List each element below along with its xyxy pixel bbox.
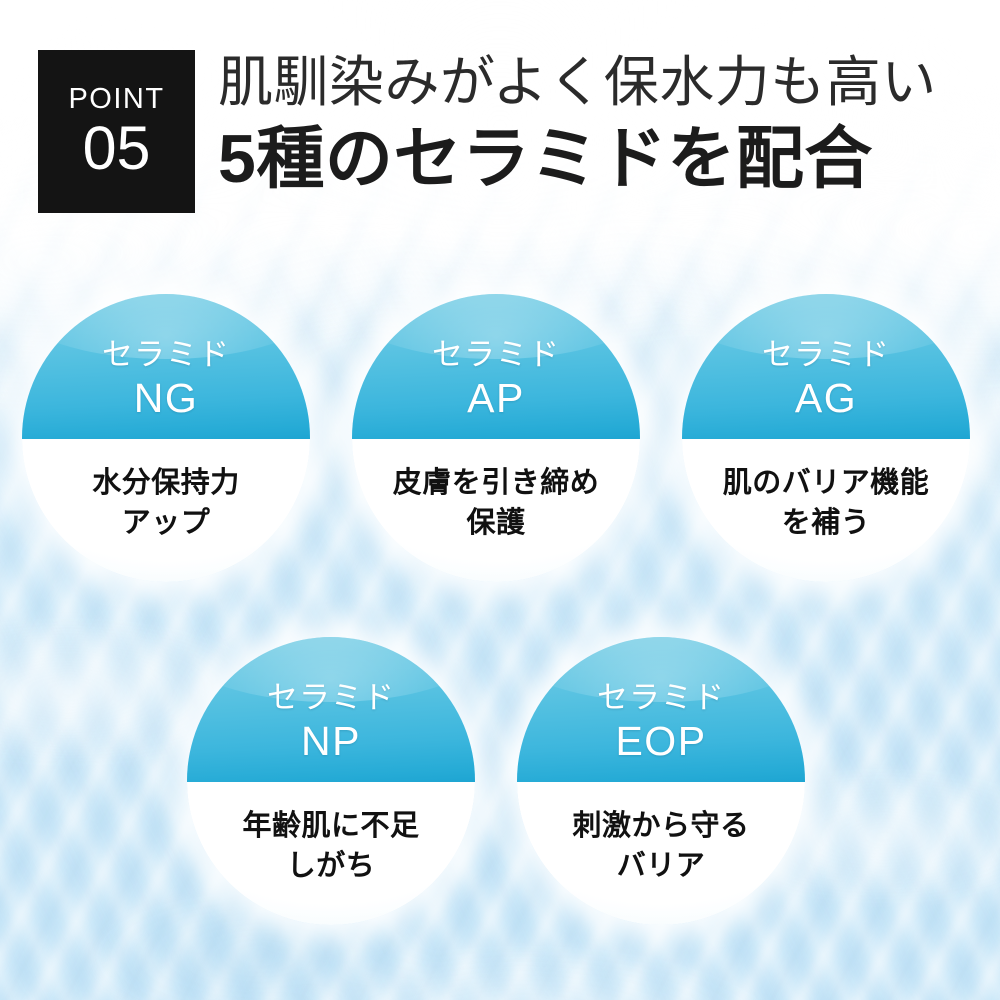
ceramide-circle: セラミド NG 水分保持力 アップ	[22, 294, 310, 582]
circle-code: AG	[795, 375, 857, 421]
circle-top-half: セラミド AP	[352, 294, 640, 439]
circle-top-half: セラミド NP	[187, 637, 475, 782]
circle-desc-line-2: 保護	[466, 503, 525, 543]
circle-desc-line-1: 皮膚を引き締め	[393, 463, 600, 503]
circle-bottom-half: 年齢肌に不足 しがち	[187, 782, 475, 925]
circle-desc-line-2: バリア	[617, 846, 706, 886]
circle-bottom-half: 刺激から守る バリア	[517, 782, 805, 925]
circle-code: AP	[467, 375, 525, 421]
circle-label: セラミド	[267, 678, 395, 718]
poster-canvas: POINT 05 肌馴染みがよく保水力も高い 5種のセラミドを配合 セラミド N…	[0, 0, 1000, 1000]
circle-top-half: セラミド NG	[22, 294, 310, 439]
ceramide-circle: セラミド AP 皮膚を引き締め 保護	[352, 294, 640, 582]
circle-top-half: セラミド AG	[682, 294, 970, 439]
circle-label: セラミド	[102, 335, 230, 375]
circle-desc-line-1: 刺激から守る	[572, 806, 749, 846]
circle-desc-line-2: アップ	[122, 503, 211, 543]
circle-code: NP	[301, 718, 361, 764]
circle-label: セラミド	[762, 335, 890, 375]
ceramide-circle: セラミド EOP 刺激から守る バリア	[517, 637, 805, 925]
circle-desc-line-1: 年齢肌に不足	[242, 806, 419, 846]
circle-code: EOP	[615, 718, 706, 764]
circle-label: セラミド	[432, 335, 560, 375]
ceramide-circle: セラミド AG 肌のバリア機能 を補う	[682, 294, 970, 582]
ceramide-circle-group: セラミド NG 水分保持力 アップ セラミド AP 皮膚を引き締め 保護 セラミ…	[0, 0, 1000, 1000]
circle-bottom-half: 肌のバリア機能 を補う	[682, 439, 970, 582]
circle-bottom-half: 水分保持力 アップ	[22, 439, 310, 582]
circle-desc-line-1: 水分保持力	[92, 463, 240, 503]
circle-desc-line-2: を補う	[782, 503, 871, 543]
ceramide-circle: セラミド NP 年齢肌に不足 しがち	[187, 637, 475, 925]
circle-desc-line-2: しがち	[287, 846, 376, 886]
circle-desc-line-1: 肌のバリア機能	[723, 463, 930, 503]
circle-code: NG	[134, 375, 199, 421]
circle-bottom-half: 皮膚を引き締め 保護	[352, 439, 640, 582]
circle-top-half: セラミド EOP	[517, 637, 805, 782]
circle-label: セラミド	[597, 678, 725, 718]
